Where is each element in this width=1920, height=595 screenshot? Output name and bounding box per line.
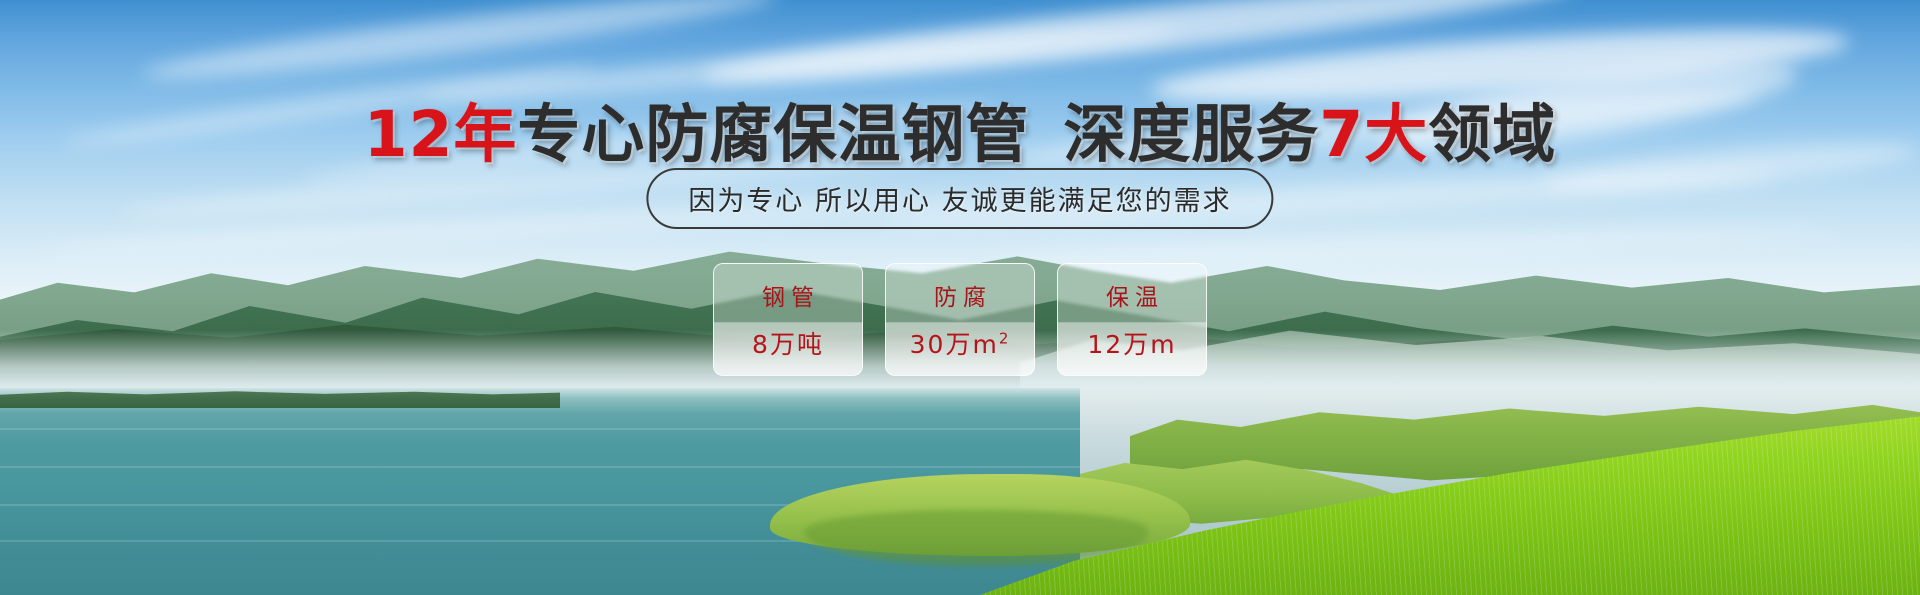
headline-years-number: 12 bbox=[364, 98, 454, 171]
stat-card-value: 12万m bbox=[1087, 325, 1176, 361]
headline-fields-unit: 大 bbox=[1364, 98, 1428, 171]
headline-fields-tail: 领域 bbox=[1428, 98, 1556, 171]
stat-card-value-superscript: 2 bbox=[999, 330, 1011, 348]
stat-card-value: 30万m2 bbox=[910, 325, 1011, 361]
promotional-banner: 12年专心防腐保温钢管深度服务7大领域 因为专心 所以用心 友诚更能满足您的需求… bbox=[0, 0, 1920, 595]
stat-card-insulation: 保温 12万m bbox=[1057, 263, 1207, 376]
stat-card-value-text: 30万m bbox=[910, 330, 999, 359]
banner-headline: 12年专心防腐保温钢管深度服务7大领域 bbox=[0, 84, 1920, 175]
stat-card-group: 钢管 8万吨 防腐 30万m2 保温 12万m bbox=[713, 263, 1207, 376]
subtitle-pill: 因为专心 所以用心 友诚更能满足您的需求 bbox=[646, 168, 1273, 229]
stat-card-label: 防腐 bbox=[928, 278, 992, 312]
stat-card-value-text: 12万m bbox=[1087, 330, 1176, 359]
stat-card-label: 保温 bbox=[1100, 278, 1164, 312]
headline-service-text: 深度服务 bbox=[1063, 98, 1319, 171]
stat-card-value: 8万吨 bbox=[752, 325, 824, 361]
stat-card-anticorrosion: 防腐 30万m2 bbox=[885, 263, 1035, 376]
stat-card-steel-pipe: 钢管 8万吨 bbox=[713, 263, 863, 376]
headline-fields-number: 7 bbox=[1319, 98, 1364, 171]
headline-main-text: 专心防腐保温钢管 bbox=[517, 98, 1029, 171]
headline-years-unit: 年 bbox=[453, 98, 517, 171]
stat-card-label: 钢管 bbox=[756, 278, 820, 312]
stat-card-value-text: 8万吨 bbox=[752, 330, 824, 359]
